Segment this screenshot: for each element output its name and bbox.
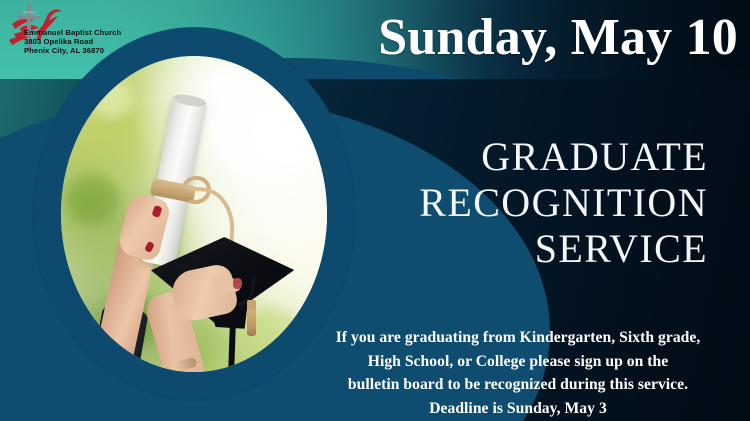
- event-date-title: Sunday, May 10: [378, 4, 738, 72]
- tassel-fringe: [247, 310, 256, 336]
- bokeh-highlight: [89, 78, 133, 118]
- fingernail: [233, 278, 242, 289]
- headline-line-3: SERVICE: [278, 226, 708, 272]
- event-headline: GRADUATE RECOGNITION SERVICE: [278, 134, 708, 272]
- event-description: If you are graduating from Kindergarten,…: [300, 326, 736, 420]
- headline-line-2: RECOGNITION: [278, 180, 708, 226]
- description-line-2: High School, or College please sign up o…: [300, 350, 736, 374]
- church-logo: Emmanuel Baptist Church 3803 Opelika Roa…: [6, 2, 156, 58]
- church-logo-text: Emmanuel Baptist Church 3803 Opelika Roa…: [24, 28, 121, 56]
- description-line-3: bulletin board to be recognized during t…: [300, 373, 736, 397]
- description-line-1: If you are graduating from Kindergarten,…: [300, 326, 736, 350]
- deadline-text: Deadline is Sunday, May 3: [300, 397, 736, 421]
- church-name: Emmanuel Baptist Church: [24, 28, 121, 37]
- headline-line-1: GRADUATE: [278, 134, 708, 180]
- bokeh-highlight: [67, 176, 119, 224]
- church-street: 3803 Opelika Road: [24, 37, 121, 46]
- graduate-recognition-flyer: Emmanuel Baptist Church 3803 Opelika Roa…: [0, 0, 750, 421]
- church-city-state-zip: Phenix City, AL 36870: [24, 46, 121, 55]
